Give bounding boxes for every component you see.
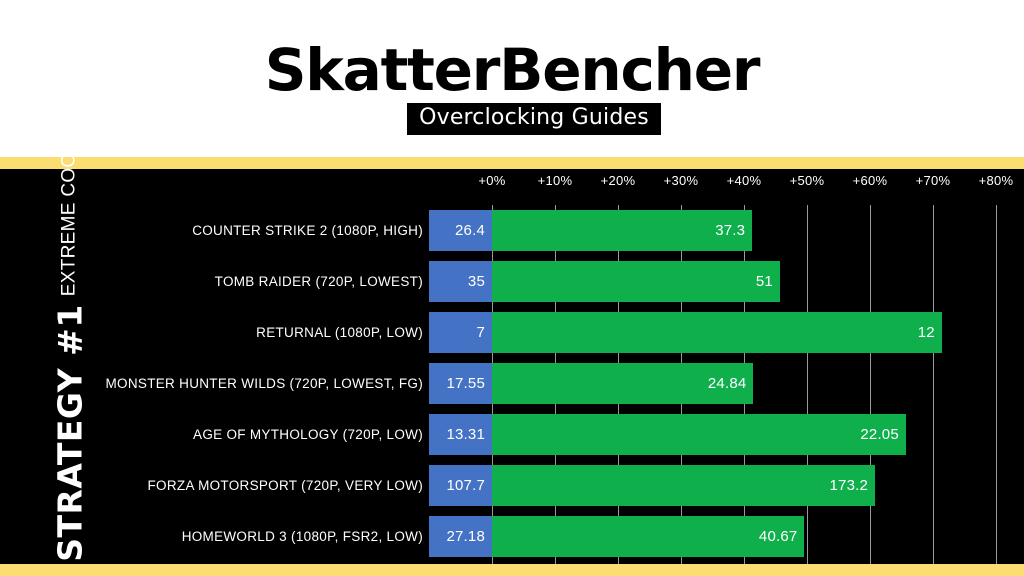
category-labels: COUNTER STRIKE 2 (1080P, HIGH)TOMB RAIDE… (120, 205, 423, 564)
baseline-bar: 13.31 (429, 414, 492, 455)
baseline-bar: 17.55 (429, 363, 492, 404)
overclock-bar-value: 51 (756, 273, 780, 290)
category-label: AGE OF MYTHOLOGY (720P, LOW) (120, 414, 423, 455)
category-label: HOMEWORLD 3 (1080P, FSR2, LOW) (120, 516, 423, 557)
x-axis-tick-10: +10% (538, 173, 573, 188)
overclock-bar-value: 37.3 (715, 222, 752, 239)
bar-rows: 26.437.3355171217.5524.8413.3122.05107.7… (429, 205, 1024, 564)
accent-band-top (0, 157, 1024, 169)
baseline-bar-value: 7 (476, 324, 492, 341)
bar-row: 712 (429, 312, 1024, 353)
bar-row: 27.1840.67 (429, 516, 1024, 557)
category-label: COUNTER STRIKE 2 (1080P, HIGH) (120, 210, 423, 251)
overclock-bar: 24.84 (492, 363, 753, 404)
brand-title: SkatterBencher (265, 38, 760, 102)
overclock-bar-value: 173.2 (829, 477, 875, 494)
accent-band-bottom (0, 564, 1024, 576)
overclock-bar: 37.3 (492, 210, 752, 251)
baseline-bar: 7 (429, 312, 492, 353)
header: SkatterBencher Overclocking Guides (0, 0, 1024, 157)
bar-row: 3551 (429, 261, 1024, 302)
overclock-bar-value: 40.67 (759, 528, 805, 545)
x-axis-tick-70: +70% (916, 173, 951, 188)
overclock-bar: 173.2 (492, 465, 875, 506)
baseline-bar-value: 27.18 (446, 528, 492, 545)
x-axis-tick-20: +20% (601, 173, 636, 188)
baseline-bar: 107.7 (429, 465, 492, 506)
bar-row: 107.7173.2 (429, 465, 1024, 506)
bar-row: 17.5524.84 (429, 363, 1024, 404)
baseline-bar-value: 107.7 (446, 477, 492, 494)
overclock-bar: 51 (492, 261, 780, 302)
category-label: TOMB RAIDER (720P, LOWEST) (120, 261, 423, 302)
baseline-bar-value: 13.31 (446, 426, 492, 443)
brand-logo: SkatterBencher Overclocking Guides (0, 38, 1024, 135)
bar-row: 13.3122.05 (429, 414, 1024, 455)
x-axis-tick-30: +30% (664, 173, 699, 188)
x-axis-tick-labels: +0%+10%+20%+30%+40%+50%+60%+70%+80% (429, 169, 1024, 205)
baseline-bar: 27.18 (429, 516, 492, 557)
x-axis-tick-50: +50% (790, 173, 825, 188)
plot-area: 26.437.3355171217.5524.8413.3122.05107.7… (429, 205, 1024, 564)
baseline-bar-value: 26.4 (455, 222, 492, 239)
baseline-bar: 26.4 (429, 210, 492, 251)
x-axis-tick-0: +0% (478, 173, 505, 188)
overclock-bar: 22.05 (492, 414, 906, 455)
x-axis-tick-60: +60% (853, 173, 888, 188)
category-label: MONSTER HUNTER WILDS (720P, LOWEST, FG) (120, 363, 423, 404)
category-label: FORZA MOTORSPORT (720P, VERY LOW) (120, 465, 423, 506)
baseline-bar: 35 (429, 261, 492, 302)
baseline-bar-value: 17.55 (446, 375, 492, 392)
overclock-bar: 40.67 (492, 516, 804, 557)
bar-row: 26.437.3 (429, 210, 1024, 251)
chart-page: SkatterBencher Overclocking Guides +0%+1… (0, 0, 1024, 576)
x-axis-tick-40: +40% (727, 173, 762, 188)
baseline-bar-value: 35 (468, 273, 492, 290)
overclock-bar: 12 (492, 312, 942, 353)
x-axis-tick-80: +80% (979, 173, 1014, 188)
category-label: RETURNAL (1080P, LOW) (120, 312, 423, 353)
brand-subtitle: Overclocking Guides (407, 103, 661, 135)
overclock-bar-value: 12 (918, 324, 942, 341)
overclock-bar-value: 24.84 (708, 375, 754, 392)
overclock-bar-value: 22.05 (860, 426, 906, 443)
